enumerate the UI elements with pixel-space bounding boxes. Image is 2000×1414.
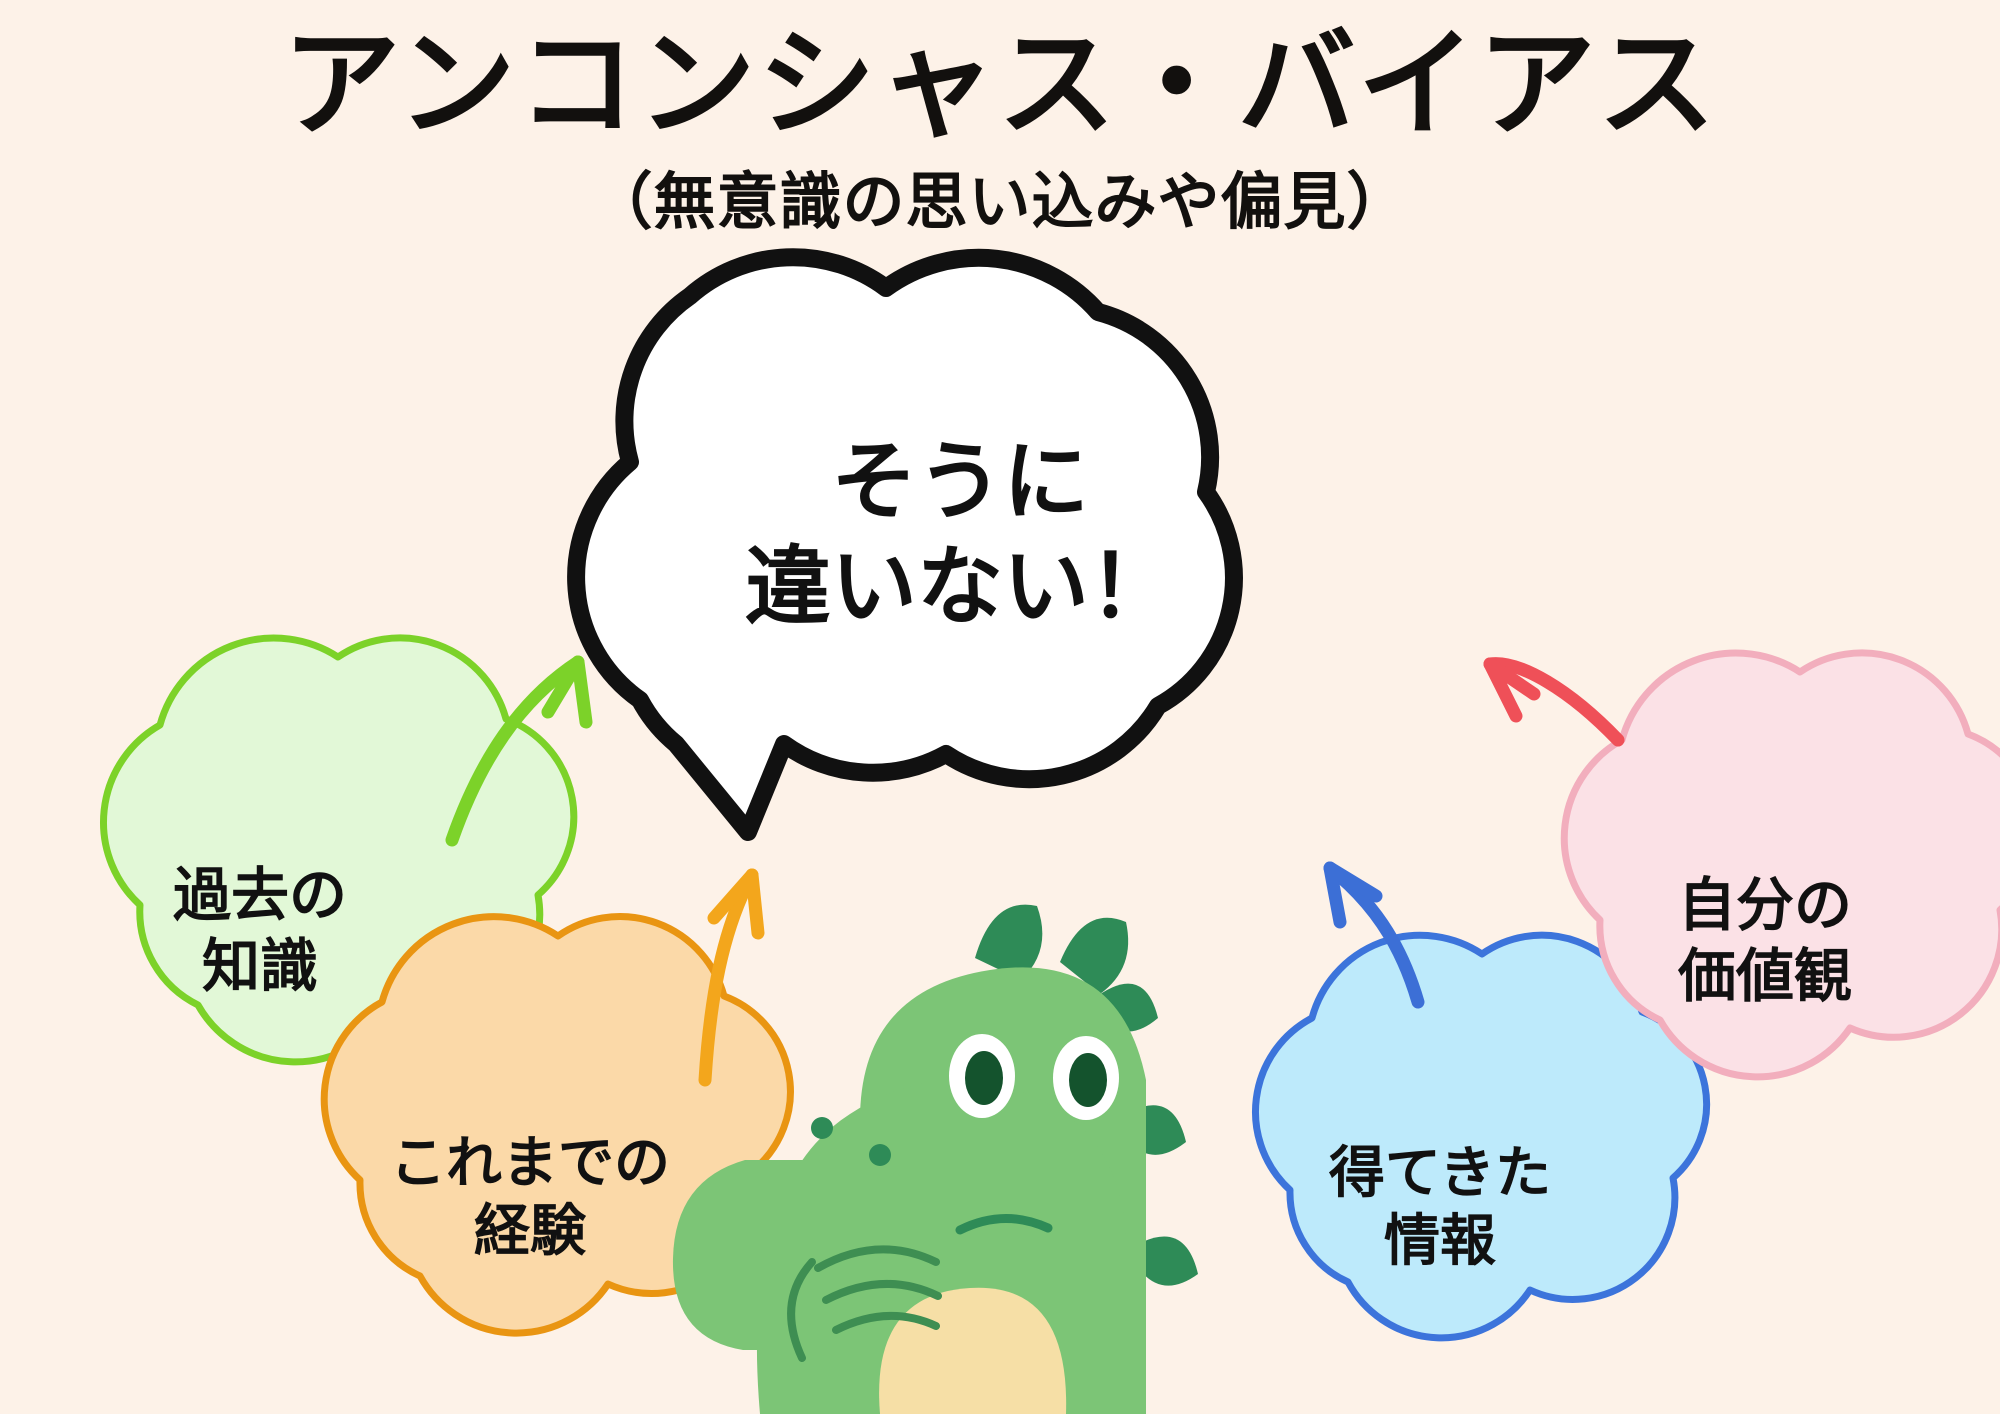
cloud-label-line2: 経験 bbox=[320, 1198, 740, 1266]
cloud-label-past-experience: これまでの 経験 bbox=[320, 1130, 740, 1267]
cloud-label-acquired-information: 得てきた 情報 bbox=[1250, 1140, 1630, 1277]
thought-bubble-line2: 違いない！ bbox=[620, 535, 1300, 640]
cloud-label-line1: 得てきた bbox=[1250, 1140, 1630, 1208]
arrow-red-icon bbox=[1490, 664, 1618, 740]
cloud-label-own-values: 自分の 価値観 bbox=[1565, 870, 1965, 1012]
cloud-label-line1: 過去の bbox=[60, 860, 460, 931]
poster-canvas: アンコンシャス・バイアス （無意識の思い込みや偏見） bbox=[0, 0, 2000, 1414]
cloud-label-line1: これまでの bbox=[320, 1130, 740, 1198]
thought-bubble-line1: そうに bbox=[620, 430, 1300, 535]
cloud-label-line1: 自分の bbox=[1565, 870, 1965, 941]
cloud-label-past-knowledge: 過去の 知識 bbox=[60, 860, 460, 1002]
thought-bubble-label: そうに 違いない！ bbox=[620, 430, 1300, 640]
cloud-label-line2: 価値観 bbox=[1565, 941, 1965, 1012]
illustration-layer bbox=[0, 0, 2000, 1414]
cloud-label-line2: 情報 bbox=[1250, 1208, 1630, 1276]
cloud-label-line2: 知識 bbox=[60, 931, 460, 1002]
